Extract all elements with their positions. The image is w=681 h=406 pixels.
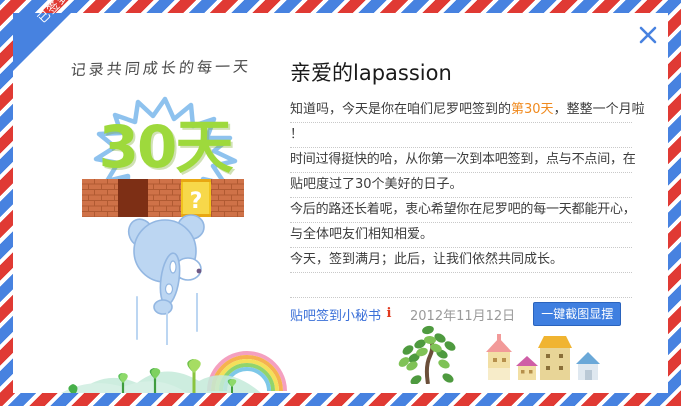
- letter-line: 时间过得挺快的哈，从你第一次到本吧签到，点与不点间，在: [290, 148, 632, 173]
- house-orange-roof-icon: [538, 336, 572, 380]
- letter-body: 知道吗，今天是你在咱们尼罗吧签到的第30天，整整一个月啦 ！ 时间过得挺快的哈，…: [290, 98, 632, 298]
- close-icon[interactable]: [637, 24, 659, 46]
- letter-line-post: ，整整一个月啦: [554, 102, 645, 117]
- letter-line: 贴吧度过了30个美好的日子。: [290, 173, 632, 198]
- letter-line-pre: ！: [290, 127, 303, 142]
- house-magenta-roof-icon: [516, 356, 538, 380]
- signature-link[interactable]: 贴吧签到小秘书: [290, 305, 381, 324]
- signin-card-window: 已签到 记录共同成长的每一天 30天: [0, 0, 681, 406]
- house-blue-roof-icon: [576, 352, 600, 380]
- landscape-graphic: [61, 343, 291, 393]
- letter-line-pre: 与全体吧友们相知相爱。: [290, 227, 433, 242]
- letter-line-pre: 贴吧度过了30个美好的日子。: [290, 177, 463, 192]
- letter-line-pre: 时间过得挺快的哈，从你第一次到本吧签到，点与不点间，在: [290, 152, 636, 167]
- info-icon[interactable]: i: [384, 307, 394, 321]
- letter-line: ！: [290, 123, 632, 148]
- house-pink-roof-icon: [486, 334, 512, 380]
- letter-line-pre: 知道吗，今天是你在咱们尼罗吧签到的: [290, 102, 511, 117]
- handwritten-tagline: 记录共同成长的每一天: [70, 55, 273, 80]
- page-title: 亲爱的lapassion: [290, 57, 452, 87]
- letter-line: 今天，签到满月；此后，让我们依然共同成长。: [290, 248, 632, 273]
- letter-line-highlight: 第30天: [511, 102, 554, 117]
- motion-lines-graphic: [131, 293, 207, 345]
- tree-icon: [397, 325, 457, 384]
- village-graphic: [392, 322, 632, 384]
- sign-date: 2012年11月12日: [410, 305, 515, 324]
- letter-line-pre: 今天，签到满月；此后，让我们依然共同成长。: [290, 252, 563, 267]
- letter-line: 今后的路还长着呢，衷心希望你在尼罗吧的每一天都能开心，: [290, 198, 632, 223]
- letter-line: 与全体吧友们相知相爱。: [290, 223, 632, 248]
- letter-line: [290, 273, 632, 298]
- letter-line-pre: 今后的路还长着呢，衷心希望你在尼罗吧的每一天都能开心，: [290, 202, 636, 217]
- letter-line: 知道吗，今天是你在咱们尼罗吧签到的第30天，整整一个月啦: [290, 98, 632, 123]
